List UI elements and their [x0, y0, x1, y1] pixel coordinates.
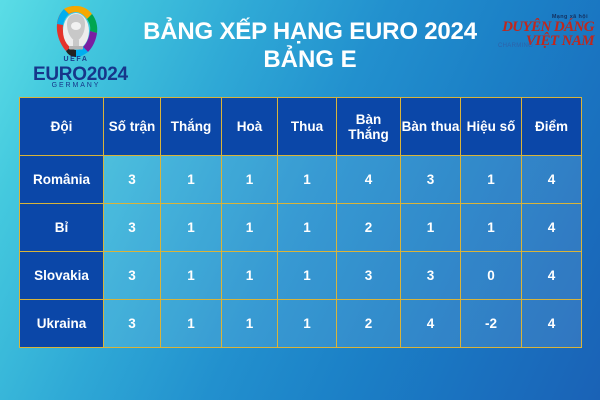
- cell-points: 4: [522, 156, 582, 204]
- cell-loss: 1: [278, 252, 337, 300]
- column-header-points: Điểm: [522, 98, 582, 156]
- table-header: Đội Số trận Thắng Hoà Thua Bàn Thắng Bàn…: [20, 98, 582, 156]
- cell-loss: 1: [278, 300, 337, 348]
- page-title: BẢNG XẾP HẠNG EURO 2024 BẢNG E: [120, 18, 500, 74]
- column-header-team: Đội: [20, 98, 104, 156]
- cell-team: Slovakia: [20, 252, 104, 300]
- cell-team: Ukraina: [20, 300, 104, 348]
- cell-goals-for: 2: [337, 300, 401, 348]
- cell-points: 4: [522, 204, 582, 252]
- cell-played: 3: [104, 252, 161, 300]
- cell-played: 3: [104, 300, 161, 348]
- uefa-euro-2024-logo: UEFA EURO2024 GERMANY: [33, 4, 119, 90]
- table-row: Ukraina 3 1 1 1 2 4 -2 4: [20, 300, 582, 348]
- cell-loss: 1: [278, 204, 337, 252]
- standings-table: Đội Số trận Thắng Hoà Thua Bàn Thắng Bàn…: [19, 97, 582, 348]
- uefa-label: UEFA: [33, 56, 119, 63]
- cell-goal-diff: -2: [461, 300, 522, 348]
- standings-table-wrapper: Đội Số trận Thắng Hoà Thua Bàn Thắng Bàn…: [19, 97, 581, 348]
- cell-draw: 1: [222, 252, 278, 300]
- column-header-goal-diff: Hiệu số: [461, 98, 522, 156]
- cell-goals-for: 4: [337, 156, 401, 204]
- cell-goals-against: 4: [401, 300, 461, 348]
- germany-label: GERMANY: [33, 82, 119, 89]
- column-header-win: Thắng: [161, 98, 222, 156]
- table-body: România 3 1 1 1 4 3 1 4 Bỉ 3 1 1 1 2: [20, 156, 582, 348]
- column-header-draw: Hoà: [222, 98, 278, 156]
- cell-win: 1: [161, 300, 222, 348]
- brand-logo: Mạng xã hội DUYÊN DÁNG VIỆT NAM CHARMING: [498, 14, 594, 58]
- cell-played: 3: [104, 204, 161, 252]
- cell-goals-for: 2: [337, 204, 401, 252]
- cell-loss: 1: [278, 156, 337, 204]
- table-header-row: Đội Số trận Thắng Hoà Thua Bàn Thắng Bàn…: [20, 98, 582, 156]
- column-header-goals-for: Bàn Thắng: [337, 98, 401, 156]
- column-header-loss: Thua: [278, 98, 337, 156]
- title-main: BẢNG XẾP HẠNG EURO 2024: [120, 18, 500, 46]
- header-band: UEFA EURO2024 GERMANY BẢNG XẾP HẠNG EURO…: [0, 0, 600, 92]
- table-row: Slovakia 3 1 1 1 3 3 0 4: [20, 252, 582, 300]
- cell-draw: 1: [222, 204, 278, 252]
- cell-goal-diff: 1: [461, 204, 522, 252]
- table-row: Bỉ 3 1 1 1 2 1 1 4: [20, 204, 582, 252]
- infographic-page: UEFA EURO2024 GERMANY BẢNG XẾP HẠNG EURO…: [0, 0, 600, 400]
- euro-trophy-icon: [50, 4, 102, 59]
- cell-points: 4: [522, 300, 582, 348]
- cell-goal-diff: 1: [461, 156, 522, 204]
- cell-points: 4: [522, 252, 582, 300]
- column-header-played: Số trận: [104, 98, 161, 156]
- title-subtitle: BẢNG E: [120, 46, 500, 74]
- cell-draw: 1: [222, 300, 278, 348]
- brand-subtitle: CHARMING: [498, 43, 533, 49]
- cell-win: 1: [161, 204, 222, 252]
- cell-goals-against: 3: [401, 252, 461, 300]
- cell-team: Bỉ: [20, 204, 104, 252]
- cell-goals-for: 3: [337, 252, 401, 300]
- cell-goals-against: 3: [401, 156, 461, 204]
- table-row: România 3 1 1 1 4 3 1 4: [20, 156, 582, 204]
- cell-goal-diff: 0: [461, 252, 522, 300]
- cell-played: 3: [104, 156, 161, 204]
- cell-win: 1: [161, 252, 222, 300]
- cell-goals-against: 1: [401, 204, 461, 252]
- cell-win: 1: [161, 156, 222, 204]
- cell-draw: 1: [222, 156, 278, 204]
- column-header-goals-against: Bàn thua: [401, 98, 461, 156]
- cell-team: România: [20, 156, 104, 204]
